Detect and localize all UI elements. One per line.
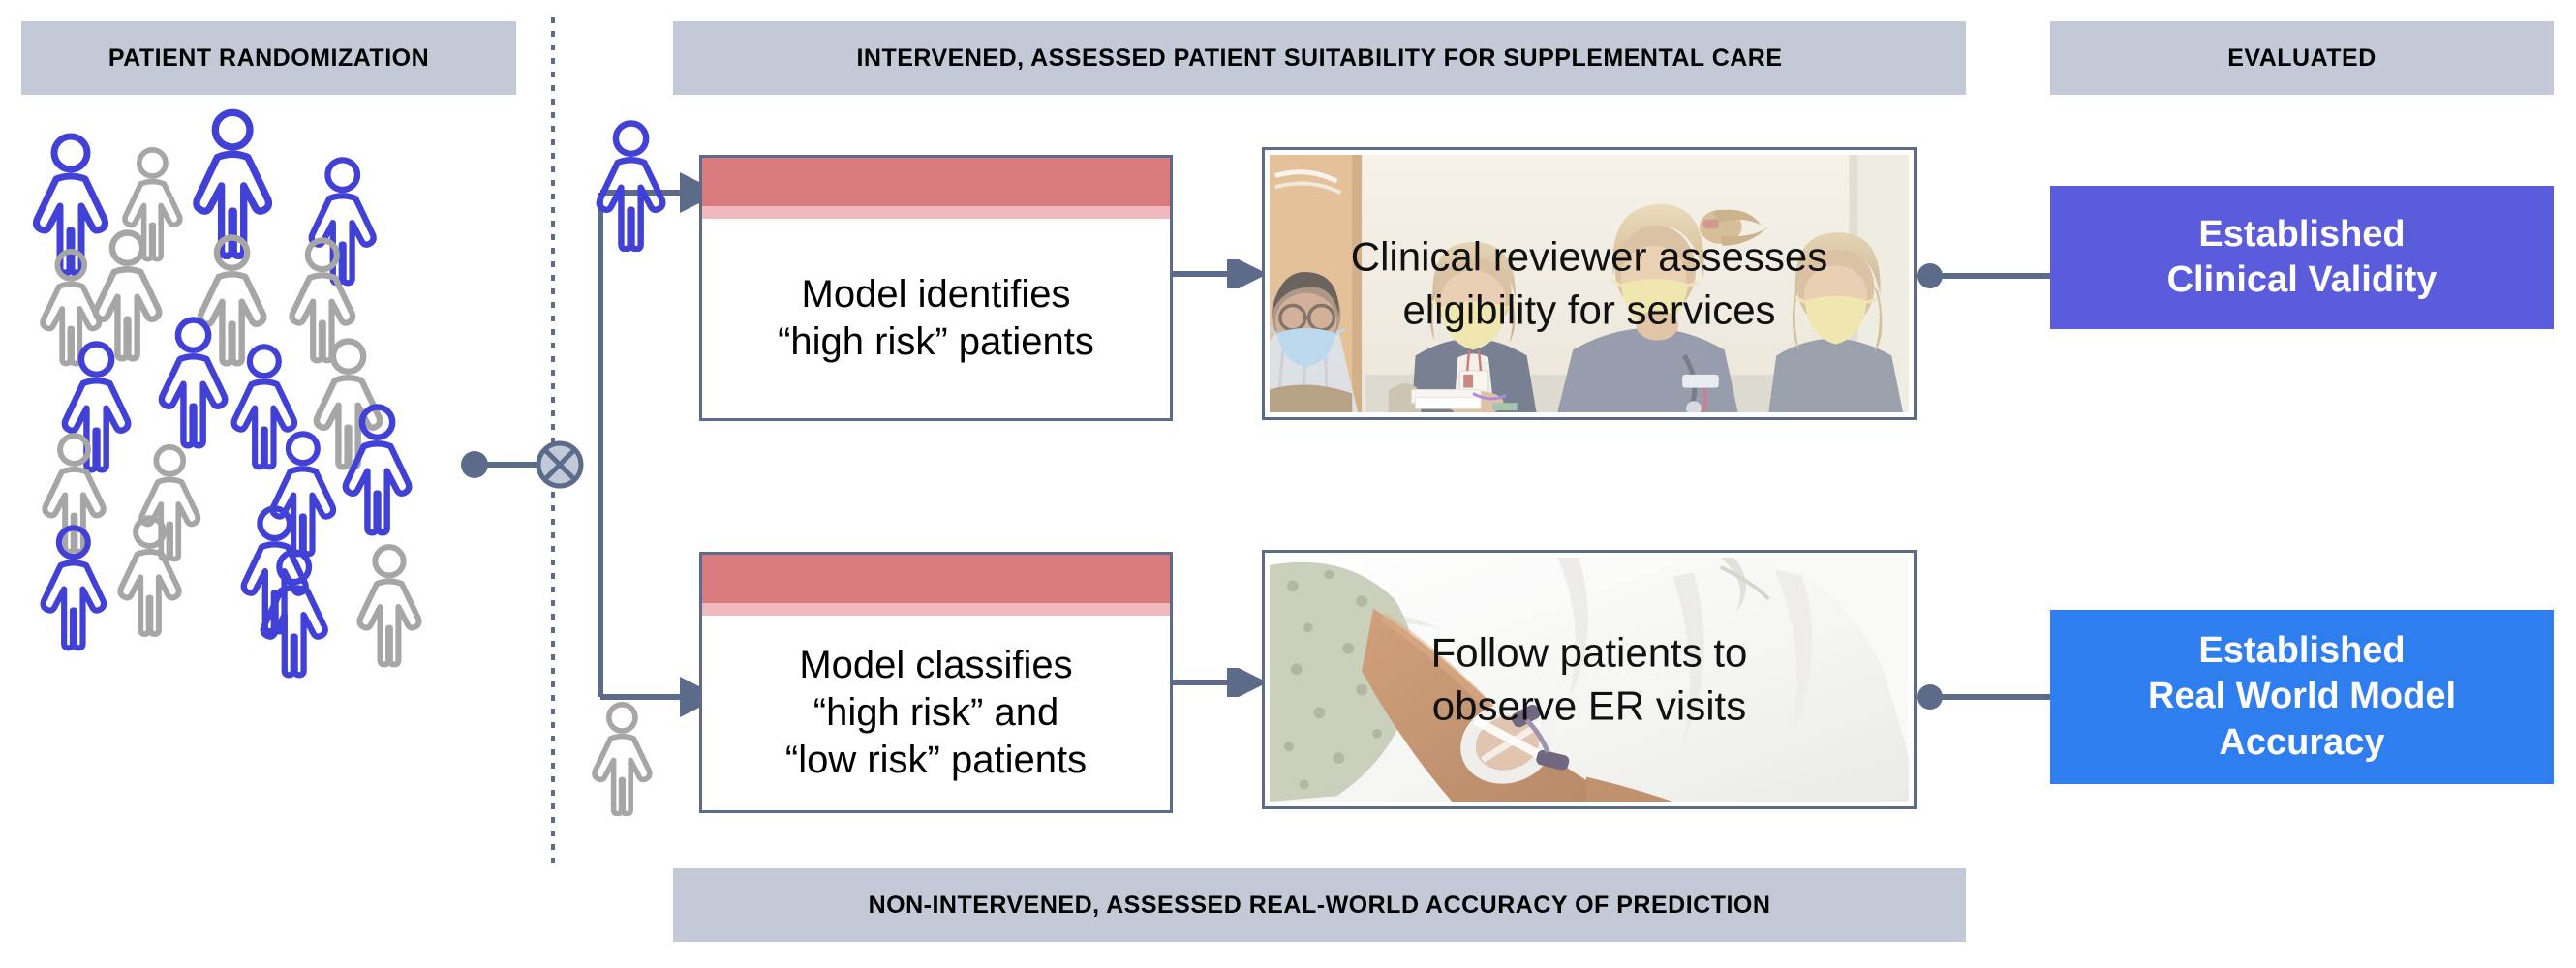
- person-icon-highlight: [257, 547, 331, 678]
- model-text-line-1: Model classifies: [785, 642, 1087, 689]
- figure-non-intervened-branch: [589, 700, 656, 821]
- model-box-identifies: Model identifies “high risk” patients: [699, 155, 1173, 421]
- result-line-1: Established: [2167, 212, 2438, 257]
- figure-intervened-branch: [593, 118, 669, 257]
- model-text-line-2: “high risk” patients: [778, 318, 1094, 366]
- connector-line-bottom: [1932, 694, 2052, 700]
- model-box-header-band-light: [702, 603, 1170, 616]
- model-box-header-band-dark: [702, 555, 1170, 603]
- patient-population-cluster: [19, 121, 484, 799]
- photo-caption-line-2: eligibility for services: [1285, 284, 1893, 337]
- model-box-classifies: Model classifies “high risk” and “low ri…: [699, 552, 1173, 813]
- photo-caption-line-2: observe ER visits: [1285, 680, 1893, 733]
- person-icon: [353, 542, 425, 667]
- result-line-1: Established: [2148, 628, 2456, 674]
- person-icon: [257, 547, 331, 678]
- band-evaluated: EVALUATED: [2050, 21, 2554, 95]
- arrow-model-to-photo-top: [1173, 259, 1266, 288]
- diagram-canvas: PATIENT RANDOMIZATION INTERVENED, ASSESS…: [0, 0, 2576, 968]
- person-icon: [593, 118, 669, 252]
- person-icon: [114, 513, 185, 637]
- photo-caption-line-1: Follow patients to: [1285, 626, 1893, 680]
- connector-line-top: [1932, 273, 2052, 279]
- model-text-line-1: Model identifies: [778, 271, 1094, 318]
- band-patient-randomization: PATIENT RANDOMIZATION: [21, 21, 516, 95]
- result-box-real-world-accuracy: Established Real World Model Accuracy: [2050, 610, 2554, 784]
- model-box-text: Model classifies “high risk” and “low ri…: [702, 616, 1170, 810]
- result-line-3: Accuracy: [2148, 720, 2456, 766]
- person-icon-highlight: [155, 315, 231, 448]
- person-icon: [37, 523, 110, 650]
- band-non-intervened: NON-INTERVENED, ASSESSED REAL-WORLD ACCU…: [673, 868, 1966, 942]
- person-icon: [339, 402, 415, 535]
- photo-caption-bottom: Follow patients to observe ER visits: [1270, 626, 1909, 732]
- result-box-clinical-validity: Established Clinical Validity: [2050, 186, 2554, 329]
- person-icon-muted: [114, 513, 185, 637]
- photo-panel-hospital-patient: Follow patients to observe ER visits: [1262, 550, 1917, 809]
- person-icon-highlight: [339, 402, 415, 535]
- person-icon-muted: [353, 542, 425, 667]
- photo-hospital-patient-iv-image: Follow patients to observe ER visits: [1270, 558, 1909, 802]
- model-text-line-3: “low risk” patients: [785, 737, 1087, 784]
- model-box-header-band-dark: [702, 158, 1170, 206]
- person-icon-highlight: [37, 523, 110, 650]
- band-intervened: INTERVENED, ASSESSED PATIENT SUITABILITY…: [673, 21, 1966, 95]
- model-text-line-2: “high risk” and: [785, 689, 1087, 737]
- arrow-model-to-photo-bottom: [1173, 668, 1266, 697]
- photo-caption-top: Clinical reviewer assesses eligibility f…: [1270, 230, 1909, 336]
- person-icon: [155, 315, 231, 448]
- result-line-2: Clinical Validity: [2167, 257, 2438, 303]
- result-line-2: Real World Model: [2148, 674, 2456, 719]
- photo-panel-clinical-review: Clinical reviewer assesses eligibility f…: [1262, 147, 1917, 420]
- model-box-header-band-light: [702, 206, 1170, 219]
- photo-clinical-review-meeting-image: Clinical reviewer assesses eligibility f…: [1270, 155, 1909, 412]
- model-box-text: Model identifies “high risk” patients: [702, 219, 1170, 418]
- photo-caption-line-1: Clinical reviewer assesses: [1285, 230, 1893, 284]
- person-icon: [589, 700, 656, 816]
